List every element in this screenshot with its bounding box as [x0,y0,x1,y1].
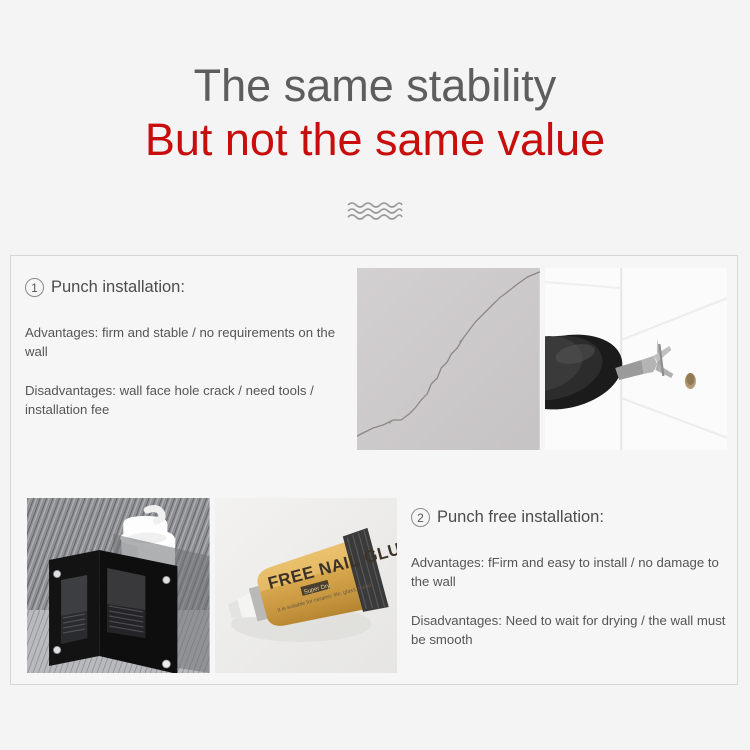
page-heading: The same stability But not the same valu… [0,60,750,166]
punch-free-installation-images: FREE NAIL GLUE Super Dry It is suitable … [27,498,397,673]
power-drill-illustration [545,268,728,450]
installation-comparison-card: 1 Punch installation: Advantages: firm a… [10,255,738,685]
punch-installation-text: 1 Punch installation: Advantages: firm a… [25,278,355,419]
heading-line-primary: The same stability [0,60,750,112]
disadvantages-text-1: Disadvantages: wall face hole crack / ne… [25,381,355,419]
section-punch-installation: 1 Punch installation: Advantages: firm a… [11,256,739,452]
free-nail-glue-tube-photo: FREE NAIL GLUE Super Dry It is suitable … [215,498,398,673]
step-header-1: 1 Punch installation: [25,278,355,297]
punch-free-installation-text: 2 Punch free installation: Advantages: f… [411,508,731,649]
section-punch-free-installation: FREE NAIL GLUE Super Dry It is suitable … [11,486,739,674]
black-shelf-rack-photo [27,498,210,673]
step-number-badge-2: 2 [411,508,430,527]
wavy-lines-icon [347,200,403,222]
black-rack-illustration [27,498,210,673]
punch-installation-images [357,268,727,450]
glue-tube-illustration: FREE NAIL GLUE Super Dry It is suitable … [215,498,398,673]
advantages-text-2: Advantages: fFirm and easy to install / … [411,553,731,591]
heading-line-secondary: But not the same value [0,114,750,166]
step-title-2: Punch free installation: [437,508,604,527]
advantages-text-1: Advantages: firm and stable / no require… [25,323,355,361]
wave-divider [0,200,750,222]
step-header-2: 2 Punch free installation: [411,508,731,527]
cracked-wall-photo [357,268,540,450]
step-number-badge-1: 1 [25,278,44,297]
power-drill-photo [545,268,728,450]
black-metal-frame [49,550,177,673]
cracked-wall-illustration [357,268,540,450]
step-title-1: Punch installation: [51,278,185,297]
disadvantages-text-2: Disadvantages: Need to wait for drying /… [411,611,731,649]
